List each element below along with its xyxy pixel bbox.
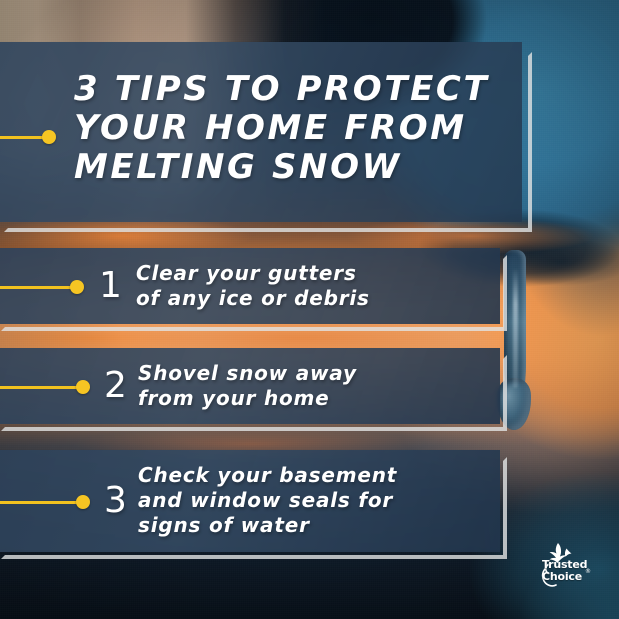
tip-2-connector (0, 380, 94, 394)
tip-1-connector (0, 280, 88, 294)
tip-panel-2: 2 Shovel snow away from your home (0, 348, 500, 424)
logo-wordmark: Trusted Choice (542, 559, 587, 583)
tip-2-text: Shovel snow away from your home (138, 361, 478, 411)
tip-1-connector-dot (70, 280, 84, 294)
tip-3-connector (0, 495, 94, 509)
tip-panel-1: 1 Clear your gutters of any ice or debri… (0, 248, 500, 324)
tip-3-connector-line (0, 501, 86, 504)
title-connector (0, 130, 56, 144)
title-panel: 3 TIPS TO PROTECT YOUR HOME FROM MELTING… (0, 42, 522, 222)
tip-1-number: 1 (99, 268, 122, 304)
tip-3-text: Check your basement and window seals for… (138, 463, 488, 538)
tip-3-connector-dot (76, 495, 90, 509)
page-title: 3 TIPS TO PROTECT YOUR HOME FROM MELTING… (74, 70, 504, 187)
tip-2-number: 2 (104, 368, 127, 404)
tip-2-connector-line (0, 386, 86, 389)
tip-1-connector-line (0, 286, 80, 289)
tip-3-number: 3 (104, 483, 127, 519)
tip-2-connector-dot (76, 380, 90, 394)
tip-1-text: Clear your gutters of any ice or debris (136, 261, 476, 311)
tip-panel-3: 3 Check your basement and window seals f… (0, 450, 500, 552)
logo-registered-mark: ® (585, 568, 591, 575)
trusted-choice-logo: Trusted Choice ® (528, 541, 594, 587)
infographic-poster: 3 TIPS TO PROTECT YOUR HOME FROM MELTING… (0, 0, 619, 619)
title-connector-dot (42, 130, 56, 144)
